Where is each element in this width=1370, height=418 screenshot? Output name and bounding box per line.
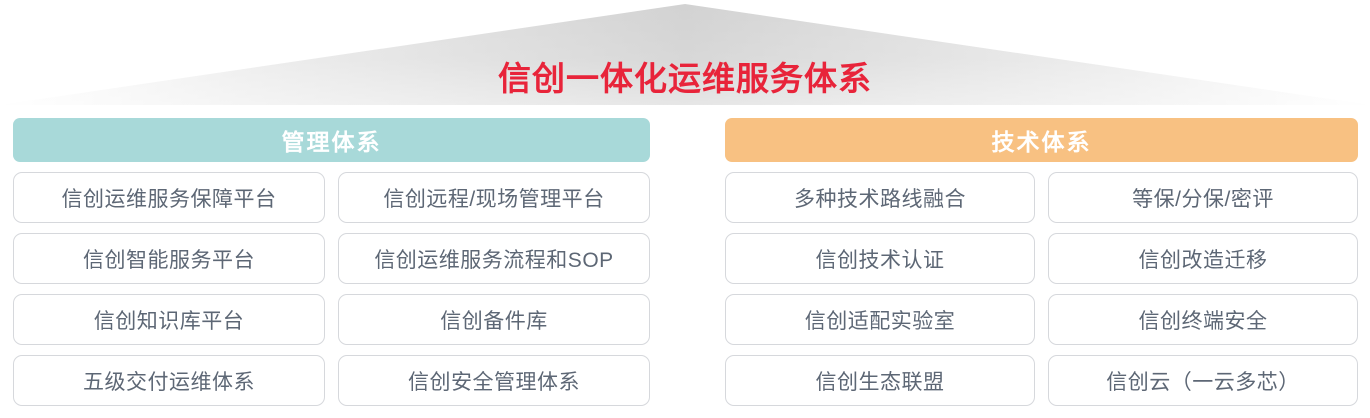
card-technology-2-4[interactable]: 信创云（一云多芯）: [1048, 355, 1358, 406]
service-system-diagram: 信创一体化运维服务体系 管理体系 信创运维服务保障平台 信创远程/现场管理平台 …: [0, 0, 1370, 418]
card-management-2-4[interactable]: 信创安全管理体系: [338, 355, 650, 406]
card-management-2-3[interactable]: 信创备件库: [338, 294, 650, 345]
card-management-1-4[interactable]: 五级交付运维体系: [13, 355, 325, 406]
group-management-system: 管理体系 信创运维服务保障平台 信创远程/现场管理平台 信创智能服务平台 信创运…: [13, 118, 650, 406]
card-management-1-3[interactable]: 信创知识库平台: [13, 294, 325, 345]
card-technology-2-1[interactable]: 等保/分保/密评: [1048, 172, 1358, 223]
page-title: 信创一体化运维服务体系: [0, 58, 1370, 100]
group-header-technology: 技术体系: [725, 118, 1358, 162]
card-technology-1-3[interactable]: 信创适配实验室: [725, 294, 1035, 345]
group-header-management: 管理体系: [13, 118, 650, 162]
card-technology-1-2[interactable]: 信创技术认证: [725, 233, 1035, 284]
group-technology-system: 技术体系 多种技术路线融合 等保/分保/密评 信创技术认证 信创改造迁移 信创适…: [725, 118, 1358, 406]
card-management-1-1[interactable]: 信创运维服务保障平台: [13, 172, 325, 223]
card-management-2-2[interactable]: 信创运维服务流程和SOP: [338, 233, 650, 284]
card-technology-1-1[interactable]: 多种技术路线融合: [725, 172, 1035, 223]
card-technology-1-4[interactable]: 信创生态联盟: [725, 355, 1035, 406]
card-management-1-2[interactable]: 信创智能服务平台: [13, 233, 325, 284]
technology-cards-grid: 多种技术路线融合 等保/分保/密评 信创技术认证 信创改造迁移 信创适配实验室 …: [725, 172, 1358, 406]
card-technology-2-3[interactable]: 信创终端安全: [1048, 294, 1358, 345]
management-cards-grid: 信创运维服务保障平台 信创远程/现场管理平台 信创智能服务平台 信创运维服务流程…: [13, 172, 650, 406]
card-technology-2-2[interactable]: 信创改造迁移: [1048, 233, 1358, 284]
card-management-2-1[interactable]: 信创远程/现场管理平台: [338, 172, 650, 223]
